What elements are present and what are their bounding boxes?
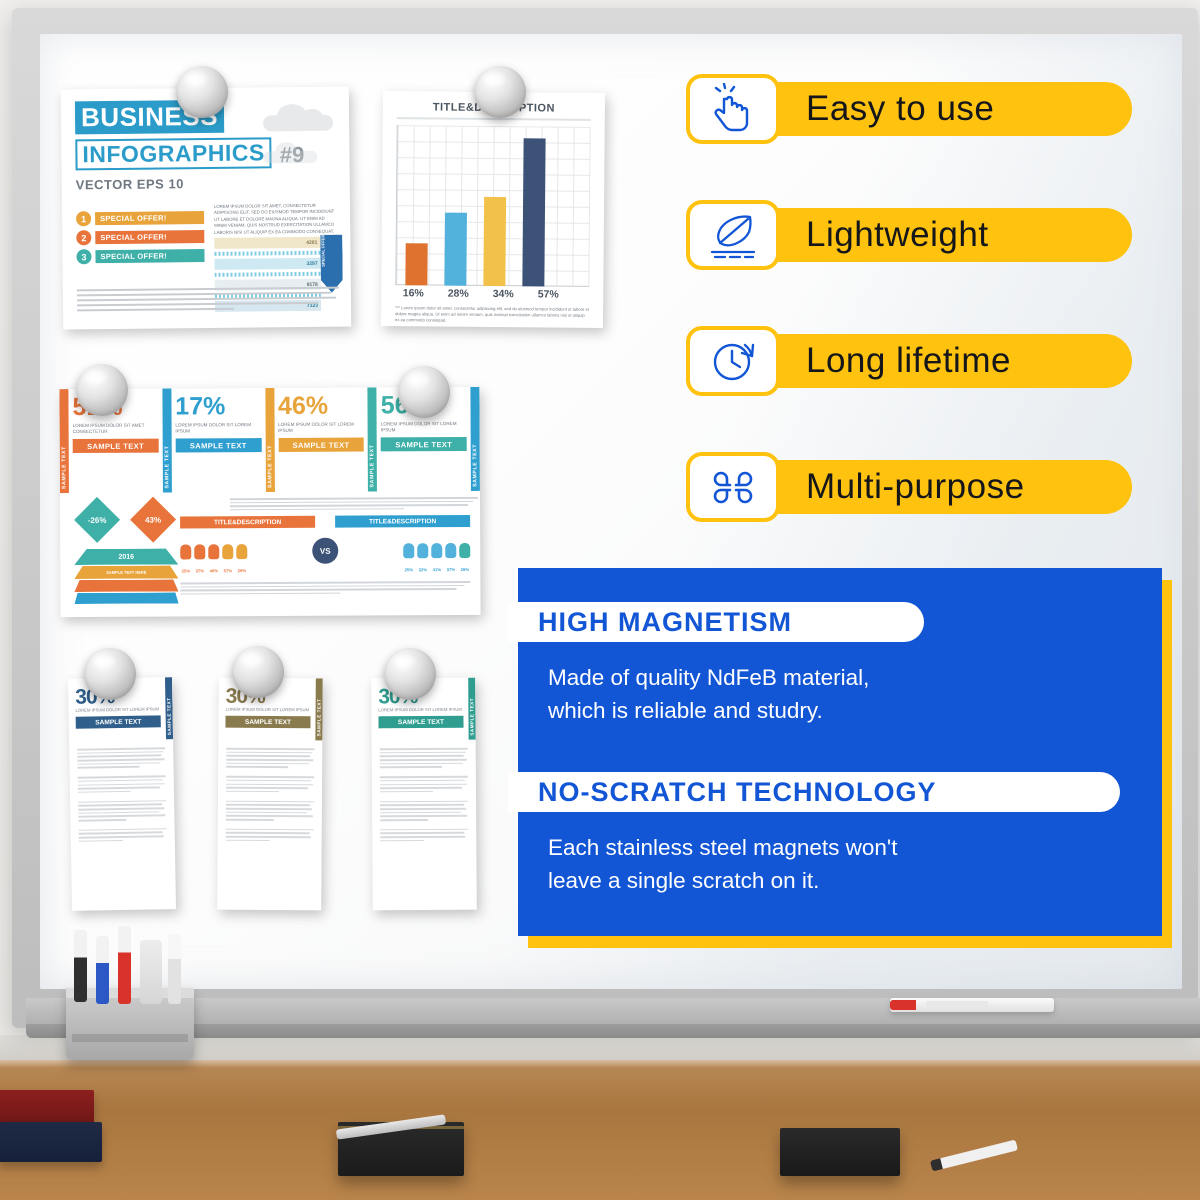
cloud-icon [263,101,337,136]
flyer-sub: LOREM IPSUM DOLOR SIT LOREM IPSUM [226,707,311,713]
percent-column: 46% LOREM IPSUM DOLOR SIT LOREM IPSUM SA… [274,387,368,491]
left-value: 46% [208,568,219,573]
book-red [0,1090,94,1124]
poster1-body-text: LOREM IPSUM DOLOR SIT AMET, CONSECTETUR … [214,203,338,236]
poster1-offers: 1 SPECIAL OFFER! 2 SPECIAL OFFER! 3 SPEC… [76,210,205,268]
poster1-value-1: 4281 [214,237,320,249]
info-heading-text: NO-SCRATCH TECHNOLOGY [538,777,937,808]
left-value: 37% [194,568,205,573]
right-value: 41% [431,567,442,572]
poster1-offer-row: 3 SPECIAL OFFER! [76,248,204,264]
chart-bars [405,125,590,287]
hand-click-icon [686,74,780,144]
poster1-subtitle: VECTOR EPS 10 [76,175,336,193]
people-group-left [180,544,247,559]
diamond-value: -26% [88,515,107,524]
magnet-disc[interactable] [176,66,228,118]
poster-flyer-3: 30% LOREM IPSUM DOLOR SIT LOREM IPSUM SA… [371,678,477,911]
left-value: 25% [180,568,191,573]
stack-sub: SAMPLE TEXT HERE [106,570,146,575]
percent-sub: LOREM IPSUM DOLOR SIT LOREM IPSUM [278,422,364,435]
comparison-right-title: TITLE&DESCRIPTION [335,515,470,528]
side-tab: SAMPLE TEXT [368,387,378,491]
people-group-right [403,542,470,557]
percent-column: 17% LOREM IPSUM DOLOR SIT LOREM IPSUM SA… [171,388,265,492]
poster1-title-line2: INFOGRAPHICS [82,139,265,167]
flyer-side-tab: SAMPLE TEXT [165,677,173,739]
flyer-body-lines [69,739,175,842]
magnet-disc[interactable] [76,364,128,416]
flyer-side-tab: SAMPLE TEXT [468,678,475,740]
flyer-body-lines [372,740,477,842]
percent-tag: SAMPLE TEXT [73,439,159,453]
feature-label: Multi-purpose [806,467,1025,507]
diamond-badge: -26% [74,497,120,543]
feature-label: Long lifetime [806,341,1011,381]
info-heading-high-magnetism: HIGH MAGNETISM [508,602,924,642]
notebook-right [780,1128,900,1176]
offer-number: 1 [76,211,91,226]
flyer-sub: LOREM IPSUM DOLOR SIT LOREM IPSUM [75,706,160,713]
feature-row-easy-to-use[interactable]: Easy to use [686,82,1132,136]
chart-x-tick-labels: 16% 28% 34% 57% [399,287,589,301]
book-navy [0,1122,102,1162]
chart-tick: 16% [399,287,427,299]
percent-tag: SAMPLE TEXT [175,438,261,452]
offer-number: 2 [76,230,91,245]
chart-bar [483,197,506,286]
poster1-badge: SPECIAL OFFER [320,235,343,293]
poster-percent-infographic: SAMPLE TEXT 51% LOREM IPSUM DOLOR SIT AM… [59,387,480,617]
chart-bar [522,138,545,286]
feature-row-multi-purpose[interactable]: Multi-purpose [686,460,1132,514]
chart-tick: 57% [534,288,562,300]
left-value: 57% [222,568,233,573]
offer-label: SPECIAL OFFER! [95,249,204,263]
side-tab: SAMPLE TEXT [265,388,275,492]
right-value: 25% [403,567,414,572]
right-value: 37% [445,567,456,572]
flyer-tag: SAMPLE TEXT [76,716,161,729]
poster1-filler-lines [77,287,339,315]
poster1-offer-row: 2 SPECIAL OFFER! [76,229,204,245]
magnet-disc[interactable] [232,646,284,698]
diamond-value: 43% [145,515,161,524]
poster-business-infographics: BUSINESS INFOGRAPHICS #9 VECTOR EPS 10 [61,86,351,329]
percent-value: 46% [278,394,364,419]
poster1-value-2: 3297 [215,258,321,270]
info-body-no-scratch: Each stainless steel magnets won't leave… [548,832,1148,897]
info-body-line: Each stainless steel magnets won't [548,832,1148,865]
feature-row-lightweight[interactable]: Lightweight [686,208,1132,262]
percent-value: 17% [175,394,261,419]
magnet-disc[interactable] [84,648,136,700]
side-tab: SAMPLE TEXT [470,387,480,491]
info-heading-text: HIGH MAGNETISM [538,607,792,638]
marker-black[interactable] [74,930,87,1002]
poster-flyer-1: 30% LOREM IPSUM DOLOR SIT LOREM IPSUM SA… [68,677,176,911]
chart-bar [405,243,427,285]
side-tab: SAMPLE TEXT [59,389,69,493]
cloud-icon-2 [263,141,319,166]
info-panel: HIGH MAGNETISM Made of quality NdFeB mat… [518,568,1162,936]
info-heading-no-scratch: NO-SCRATCH TECHNOLOGY [508,772,1120,812]
marker-red[interactable] [118,926,131,1004]
right-value: 26% [459,567,470,572]
poster-flyer-2: 30% LOREM IPSUM DOLOR SIT LOREM IPSUM SA… [217,678,323,911]
whiteboard-tray-lip [26,1024,1200,1038]
desk-surface [0,1060,1200,1200]
vs-badge: VS [312,538,338,564]
flyer-tag: SAMPLE TEXT [225,716,310,729]
flyer-side-tab: SAMPLE TEXT [315,678,322,740]
percent-tag: SAMPLE TEXT [381,437,467,451]
side-tab: SAMPLE TEXT [162,389,172,493]
right-value: 32% [417,567,428,572]
eraser[interactable] [140,940,162,1004]
stack-year: 2016 [118,553,134,560]
flyer-body-lines [218,740,323,842]
poster3-comparison: TITLE&DESCRIPTION TITLE&DESCRIPTION VS 2… [180,515,470,597]
feather-icon [686,200,780,270]
magnet-disc[interactable] [398,366,450,418]
info-body-line: which is reliable and studry. [548,695,1128,728]
poster3-filler-lines [230,497,478,513]
feature-label: Lightweight [806,215,989,255]
info-body-line: Made of quality NdFeB material, [548,662,1128,695]
magnet-disc[interactable] [474,66,526,118]
four-petal-icon [686,452,780,522]
scene: BUSINESS INFOGRAPHICS #9 VECTOR EPS 10 [0,0,1200,1200]
offer-number: 3 [76,249,91,264]
chart-footnote: *** Lorem ipsum dolor sit amet, consecte… [395,305,589,325]
info-body-high-magnetism: Made of quality NdFeB material, which is… [548,662,1128,727]
poster3-diamond-group: -26% 43% 2016 SAMPLE TEXT HERE [74,496,179,615]
layer-stack: 2016 SAMPLE TEXT HERE [74,548,178,615]
info-body-line: leave a single scratch on it. [548,865,1148,898]
magnet-disc[interactable] [384,648,436,700]
clock-arrow-icon [686,326,780,396]
poster3-bottom-lines [180,581,470,595]
percent-sub: LOREM IPSUM DOLOR SIT LOREM IPSUM [381,421,467,434]
marker-blue[interactable] [96,936,109,1004]
poster-bar-chart: TITLE&DESCRIPTION 16% 28% 34% 57% *** Lo… [381,91,605,328]
offer-label: SPECIAL OFFER! [95,211,204,225]
feature-row-long-lifetime[interactable]: Long lifetime [686,334,1132,388]
whiteboard-marker-right[interactable] [890,998,1054,1012]
marker-white[interactable] [168,934,181,1004]
offer-label: SPECIAL OFFER! [95,230,204,244]
percent-tag: SAMPLE TEXT [278,438,364,452]
left-value: 29% [236,568,247,573]
poster1-offer-row: 1 SPECIAL OFFER! [76,210,204,226]
flyer-sub: LOREM IPSUM DOLOR SIT LOREM IPSUM [378,707,463,713]
chart-tick: 34% [489,288,517,300]
percent-sub: LOREM IPSUM DOLOR SIT LOREM IPSUM [175,422,261,435]
comparison-left-title: TITLE&DESCRIPTION [180,516,315,529]
diamond-badge: 43% [130,496,176,542]
feature-label: Easy to use [806,89,994,129]
flyer-tag: SAMPLE TEXT [378,716,463,729]
percent-sub: LOREM IPSUM DOLOR SIT AMET CONSECTETUR [73,423,159,436]
poster1-badge-text: SPECIAL OFFER [320,235,330,273]
chart-tick: 28% [444,288,472,300]
chart-bar [444,213,467,286]
